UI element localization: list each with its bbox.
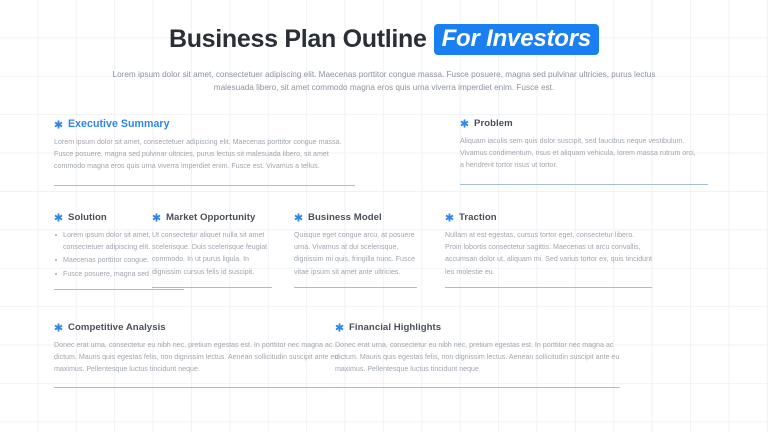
section-body: Nullam at est egestas, cursus tortor ege…	[445, 229, 652, 278]
section-header: Problem	[460, 118, 715, 129]
slide-header: Business Plan Outline For Investors Lore…	[0, 0, 768, 95]
asterisk-icon	[335, 323, 344, 332]
page-title: Business Plan Outline	[169, 27, 427, 52]
section-traction: Traction Nullam at est egestas, cursus t…	[441, 212, 691, 290]
section-executive-summary: Executive Summary Lorem ipsum dolor sit …	[0, 118, 385, 186]
section-body: Donec erat urna, consectetur eu nibh nec…	[335, 339, 620, 376]
section-problem: Problem Aliquam iaculis sem quis dolor s…	[385, 118, 715, 186]
title-highlight-badge: For Investors	[434, 24, 599, 55]
list-item: Lorem ipsum dolor sit amet, consectetuer…	[54, 229, 184, 253]
section-title: Executive Summary	[68, 118, 170, 130]
section-title: Traction	[459, 212, 497, 223]
list-item: Fusce posuere, magna sed	[54, 268, 184, 280]
section-row-1: Executive Summary Lorem ipsum dolor sit …	[0, 118, 768, 186]
section-header: Business Model	[294, 212, 417, 223]
section-title: Business Model	[308, 212, 382, 223]
list-item: Maecenas porttitor congue.	[54, 254, 184, 266]
section-divider	[152, 287, 272, 288]
subtitle-text: Lorem ipsum dolor sit amet, consectetuer…	[104, 68, 664, 95]
section-competitive-analysis: Competitive Analysis Donec erat urna, co…	[0, 322, 335, 388]
section-row-3: Competitive Analysis Donec erat urna, co…	[0, 322, 768, 388]
section-divider	[335, 387, 620, 388]
section-title: Problem	[474, 118, 513, 129]
section-divider	[445, 287, 652, 288]
section-body: Aliquam iaculis sem quis dolor suscipit,…	[460, 135, 700, 172]
section-divider	[54, 185, 355, 186]
title-row: Business Plan Outline For Investors	[0, 24, 768, 55]
section-divider	[460, 184, 708, 185]
section-title: Market Opportunity	[166, 212, 255, 223]
section-header: Competitive Analysis	[54, 322, 335, 333]
section-body: Lorem ipsum dolor sit amet, consectetuer…	[54, 136, 355, 173]
section-financial-highlights: Financial Highlights Donec erat urna, co…	[335, 322, 675, 388]
section-title: Financial Highlights	[349, 322, 441, 333]
section-body: Quisque eget congue arcu, at posuere urn…	[294, 229, 417, 278]
section-header: Market Opportunity	[152, 212, 272, 223]
asterisk-icon	[54, 120, 63, 129]
section-header: Traction	[445, 212, 652, 223]
asterisk-icon	[54, 213, 63, 222]
asterisk-icon	[445, 213, 454, 222]
section-body: Donec erat urna, consectetur eu nibh nec…	[54, 339, 339, 376]
section-row-2: Solution Lorem ipsum dolor sit amet, con…	[0, 212, 768, 290]
section-solution: Solution Lorem ipsum dolor sit amet, con…	[0, 212, 150, 290]
asterisk-icon	[460, 119, 469, 128]
section-divider	[54, 387, 339, 388]
solution-bullet-list: Lorem ipsum dolor sit amet, consectetuer…	[54, 229, 184, 280]
section-divider	[294, 287, 417, 288]
section-title: Competitive Analysis	[68, 322, 166, 333]
section-header: Executive Summary	[54, 118, 385, 130]
section-divider	[54, 289, 184, 290]
asterisk-icon	[152, 213, 161, 222]
asterisk-icon	[294, 213, 303, 222]
section-header: Financial Highlights	[335, 322, 675, 333]
section-title: Solution	[68, 212, 107, 223]
slide-canvas: Business Plan Outline For Investors Lore…	[0, 0, 768, 432]
asterisk-icon	[54, 323, 63, 332]
section-business-model: Business Model Quisque eget congue arcu,…	[294, 212, 441, 290]
